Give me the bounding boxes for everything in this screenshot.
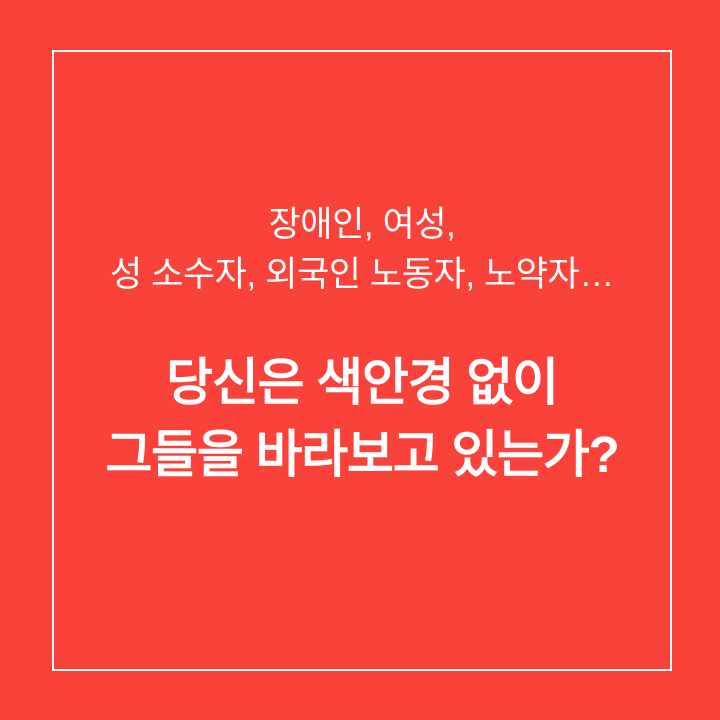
headline-line-1: 당신은 색안경 없이 [105,347,618,418]
headline-line-2: 그들을 바라보고 있는가? [105,419,618,490]
subtitle-line-2: 성 소수자, 외국인 노동자, 노약자… [110,250,614,300]
subtitle-block: 장애인, 여성, 성 소수자, 외국인 노동자, 노약자… [110,200,614,299]
poster-card: 장애인, 여성, 성 소수자, 외국인 노동자, 노약자… 당신은 색안경 없이… [0,0,720,720]
headline-block: 당신은 색안경 없이 그들을 바라보고 있는가? [105,347,618,490]
subtitle-line-1: 장애인, 여성, [110,200,614,250]
poster-content: 장애인, 여성, 성 소수자, 외국인 노동자, 노약자… 당신은 색안경 없이… [52,50,672,671]
